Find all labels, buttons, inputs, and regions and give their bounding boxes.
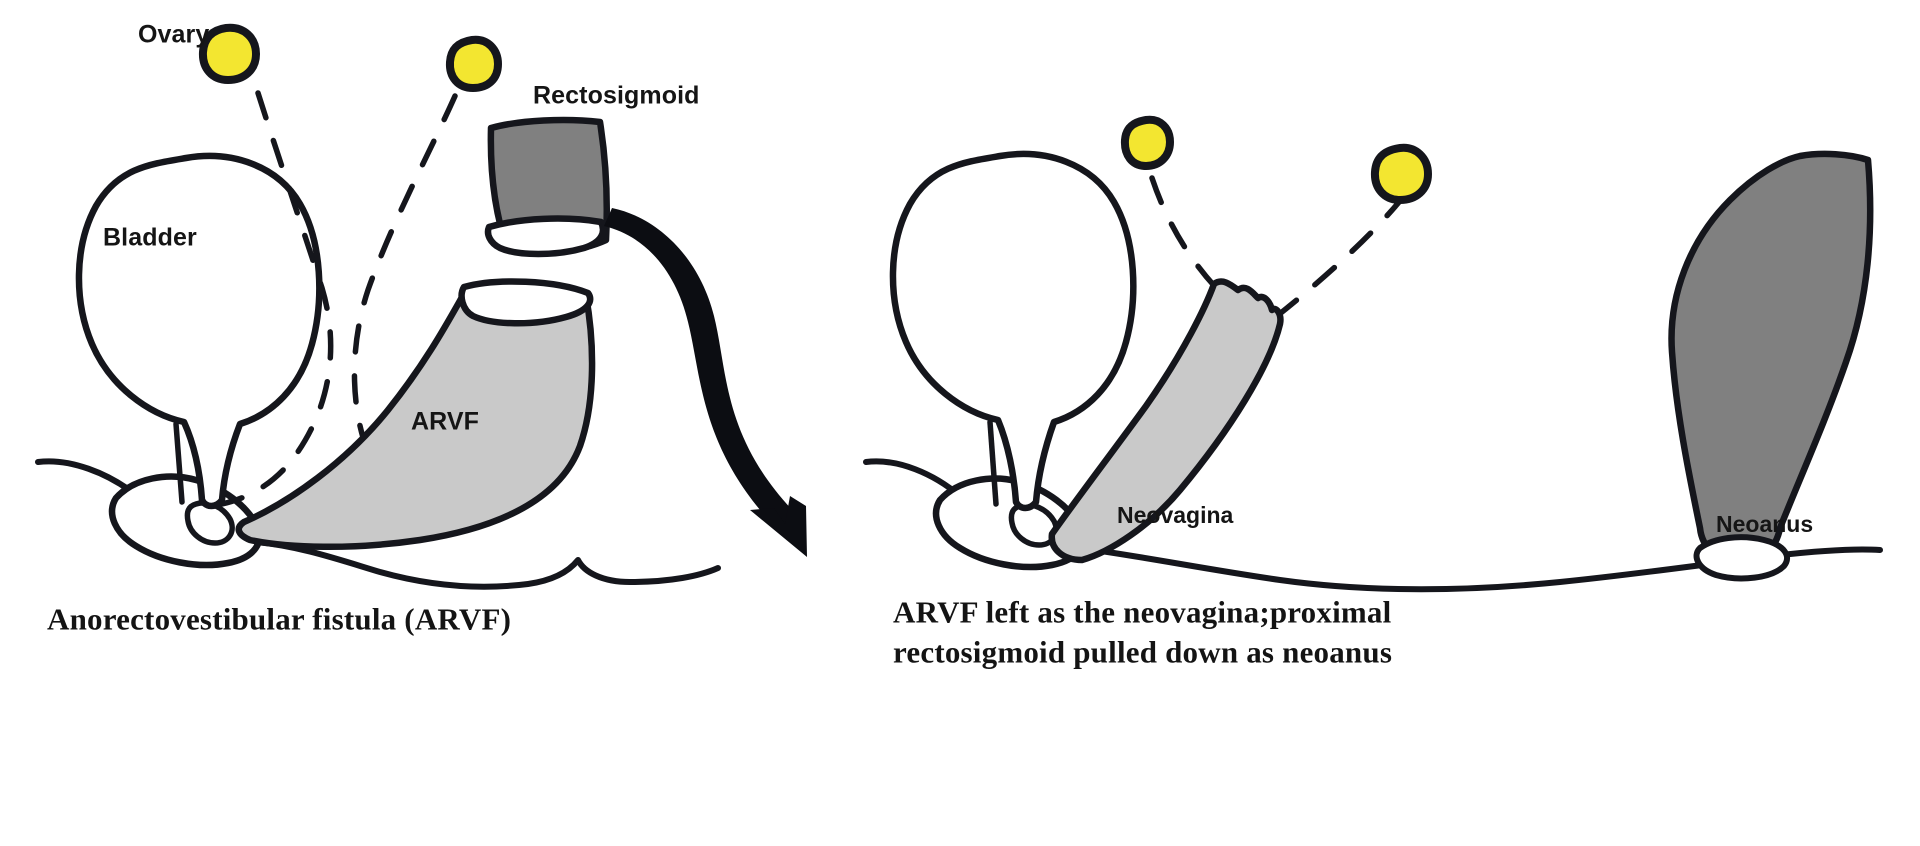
rectosigmoid-stump <box>488 120 607 254</box>
ovary-left-shape-right <box>1125 120 1170 166</box>
caption-left-panel: Anorectovestibular fistula (ARVF) <box>47 601 511 636</box>
label-neoanus: Neoanus <box>1716 511 1813 537</box>
ovary-left-right-panel <box>1125 120 1170 166</box>
medical-diagram-canvas: Ovary Bladder Rectosigmoid ARVF Anorecto… <box>0 0 1920 846</box>
ovary-right <box>450 40 498 88</box>
label-rectosigmoid: Rectosigmoid <box>533 82 700 110</box>
bladder-structure-right <box>893 154 1133 508</box>
ovary-left-shape <box>203 28 256 80</box>
ovary-right-right-panel <box>1375 148 1428 200</box>
bladder-outline-right <box>893 154 1133 508</box>
neoanus-body <box>1672 154 1871 562</box>
fallopian-tubes-dashed-right <box>1152 178 1404 320</box>
arrow-shaft <box>604 208 800 534</box>
neoanus-opening <box>1697 537 1788 578</box>
ovary-right-shape <box>450 40 498 88</box>
bladder-structure <box>79 156 319 506</box>
panel-left: Ovary Bladder Rectosigmoid ARVF Anorecto… <box>38 21 807 637</box>
tube-left-dashed-right <box>1152 178 1218 290</box>
label-arvf: ARVF <box>411 408 479 436</box>
label-neovagina: Neovagina <box>1117 502 1234 528</box>
arvf-cut-lumen <box>462 281 591 323</box>
label-bladder: Bladder <box>103 224 197 252</box>
caption-right-panel-line1: ARVF left as the neovagina;proximal <box>893 594 1392 629</box>
caption-right-panel-line2: rectosigmoid pulled down as neoanus <box>893 634 1392 669</box>
rectosigmoid-cut-lumen <box>488 219 603 254</box>
panel-right: Neovagina Neoanus ARVF left as the neova… <box>866 120 1880 670</box>
pull-through-arrow <box>604 208 807 557</box>
ovary-right-shape-right <box>1375 148 1428 200</box>
ovary-left <box>203 28 256 80</box>
tube-right-dashed-right <box>1272 196 1404 320</box>
figure-root: Ovary Bladder Rectosigmoid ARVF Anorecto… <box>0 0 1920 846</box>
bladder-outline <box>79 156 319 506</box>
label-ovary: Ovary <box>138 21 209 49</box>
